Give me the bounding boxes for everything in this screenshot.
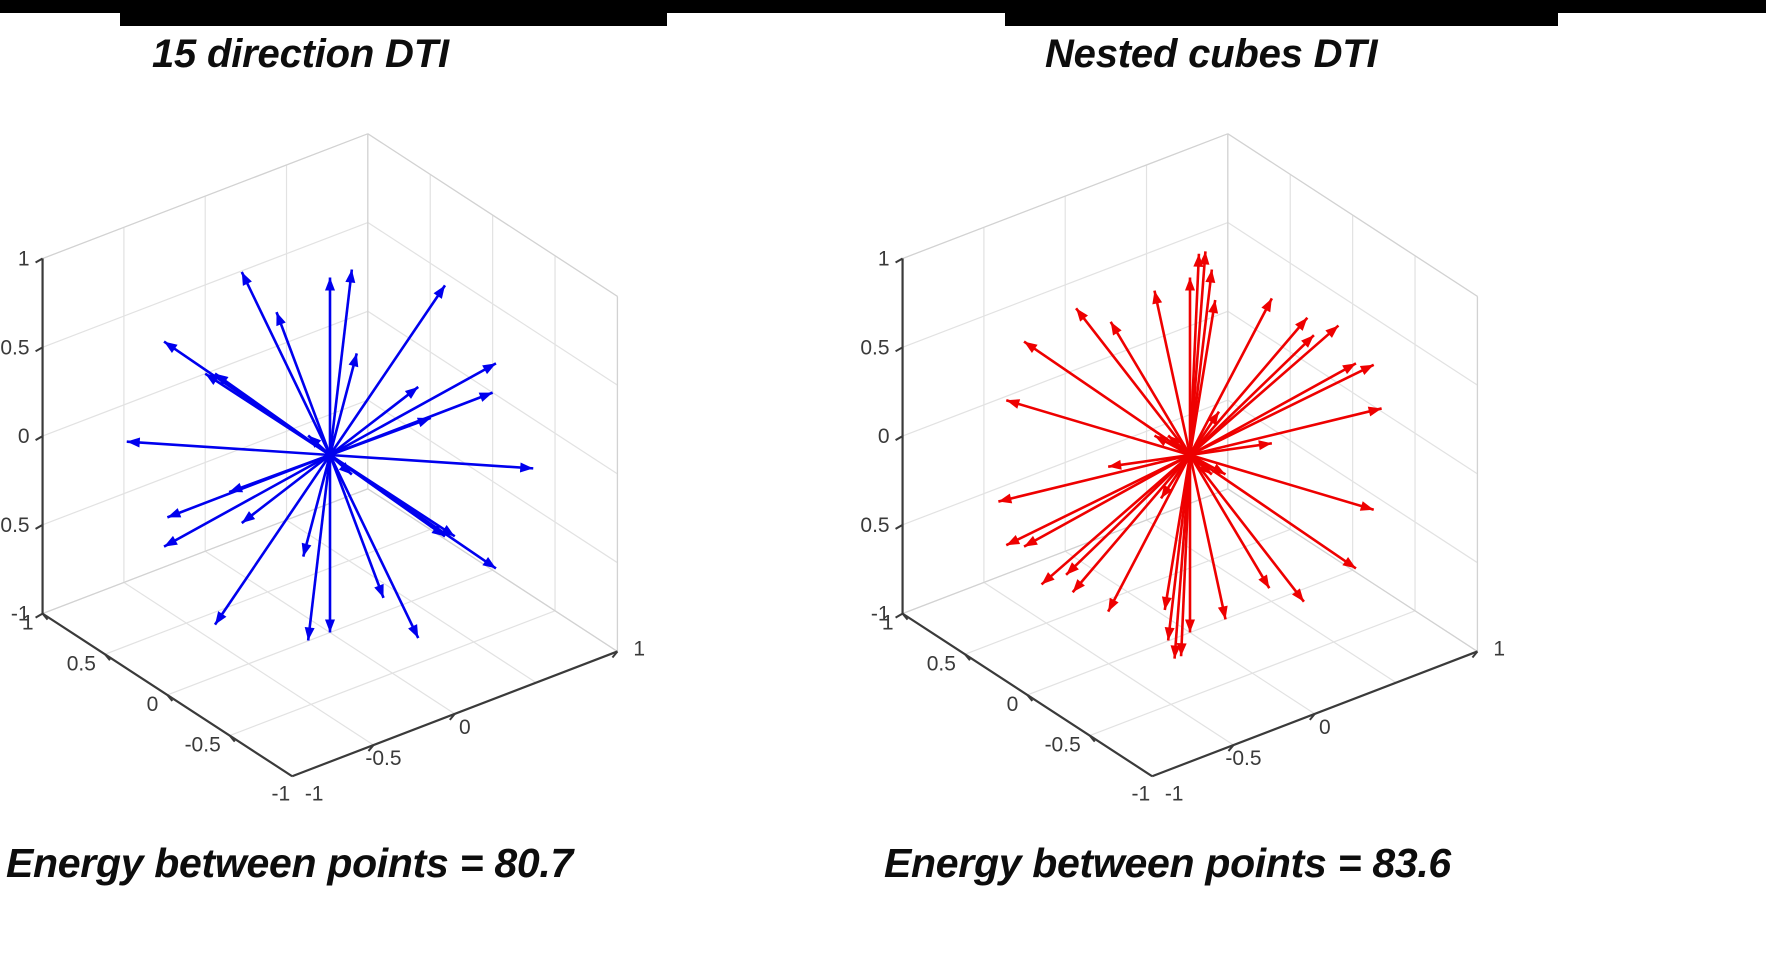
- quiver-arrow-head: [1360, 501, 1374, 511]
- quiver-arrow-shaft: [164, 342, 330, 455]
- z-tick: [896, 614, 903, 618]
- quiver-arrow-head: [1258, 440, 1272, 450]
- y-tick-label: 1: [22, 612, 34, 635]
- band-segment-1: [120, 0, 667, 26]
- quiver-arrow-head: [482, 363, 496, 374]
- z-tick: [36, 614, 43, 618]
- y-tick-label: -0.5: [185, 734, 221, 757]
- quiver-arrow-head: [276, 312, 285, 326]
- figure-left-dti-plot: 10.50-0.5-110.50-0.5-1-0.501-1: [0, 95, 700, 825]
- quiver-arrow-shaft: [1066, 455, 1190, 575]
- x-tick-label-corner: -1: [1165, 782, 1184, 805]
- quiver-arrow-shaft: [303, 455, 330, 557]
- quiver-arrow-head: [408, 624, 418, 638]
- z-tick-label: 0: [878, 425, 890, 448]
- quiver-arrow-head: [1185, 277, 1195, 290]
- caption-right-energy: Energy between points = 83.6: [884, 840, 1451, 887]
- quiver-arrow-head: [479, 393, 493, 402]
- y-axis-line: [903, 614, 1153, 777]
- quiver-arrow-head: [167, 508, 181, 517]
- band-segment-4: [1558, 0, 1766, 13]
- z-tick-label: 0: [18, 425, 30, 448]
- quiver-arrow-shaft: [330, 455, 383, 598]
- x-axis-line: [1152, 651, 1477, 776]
- quiver-arrow-shaft: [330, 363, 496, 455]
- quiver-arrow-head: [215, 611, 226, 625]
- band-segment-2: [667, 0, 1005, 13]
- band-segment-3: [1005, 0, 1558, 26]
- quiver-arrow-shaft: [330, 353, 357, 455]
- quiver-arrow-head: [1258, 574, 1269, 588]
- quiver-arrow-head: [1006, 399, 1020, 409]
- z-tick-label: 0.5: [860, 336, 889, 359]
- band-segment-0: [0, 0, 120, 13]
- quiver-arrow-shaft: [330, 418, 431, 455]
- quiver-arrow-head: [417, 418, 431, 427]
- figure-right-dti-plot: 10.50-0.5-110.50-0.5-1-0.501-1: [860, 95, 1560, 825]
- top-black-band: [0, 0, 1766, 26]
- floor-grid-line: [965, 529, 1290, 654]
- panel-title-left: 15 direction DTI: [152, 32, 449, 77]
- quiver-group: [998, 251, 1381, 658]
- y-tick-label: 0.5: [927, 652, 956, 675]
- quiver-group: [127, 270, 533, 641]
- y-tick-label: -0.5: [1045, 734, 1081, 757]
- quiver-arrow-head: [1111, 322, 1122, 336]
- x-tick-label: -0.5: [1225, 747, 1261, 770]
- quiver-arrow-head: [1360, 365, 1374, 375]
- quiver-arrow-head: [1108, 598, 1118, 612]
- z-tick-label: -0.5: [0, 514, 30, 537]
- quiver-arrow-shaft: [330, 455, 533, 468]
- quiver-arrow-head: [325, 277, 335, 290]
- quiver-arrow-head: [1006, 535, 1020, 545]
- quiver-arrow-head: [482, 557, 496, 568]
- quiver-arrow-head: [1162, 596, 1172, 610]
- panel-title-right: Nested cubes DTI: [1045, 32, 1377, 77]
- quiver-arrow-shaft: [1190, 365, 1374, 455]
- quiver-arrow-head: [302, 543, 312, 557]
- quiver-arrow-head: [242, 272, 252, 286]
- z-tick-label: -0.5: [860, 514, 890, 537]
- quiver-arrow-shaft: [1190, 326, 1338, 455]
- quiver-arrow-head: [1024, 536, 1038, 547]
- x-tick-label-corner: -1: [305, 782, 324, 805]
- quiver-arrow-head: [164, 536, 178, 547]
- y-tick-label: 1: [882, 612, 894, 635]
- quiver-arrow-head: [1261, 298, 1271, 312]
- floor-grid-line: [287, 520, 537, 683]
- quiver-arrow-shaft: [277, 312, 330, 455]
- quiver-arrow-shaft: [1190, 335, 1314, 455]
- z-tick-label: 1: [18, 248, 30, 271]
- quiver-arrow-head: [1024, 342, 1038, 353]
- quiver-arrow-head: [434, 285, 445, 299]
- quiver-arrow-head: [349, 353, 359, 367]
- y-tick-label-corner: -1: [271, 782, 290, 805]
- x-tick-label: 1: [633, 637, 645, 660]
- quiver-arrow-shaft: [330, 387, 418, 455]
- quiver-arrow-head: [520, 463, 533, 473]
- z-tick-label: 0.5: [0, 336, 29, 359]
- quiver-arrow-head: [229, 483, 243, 492]
- quiver-arrow-shaft: [1006, 455, 1190, 545]
- quiver-arrow-shaft: [229, 455, 330, 492]
- caption-left-energy: Energy between points = 80.7: [6, 840, 573, 887]
- quiver-arrow-shaft: [242, 455, 330, 523]
- y-tick-label-corner: -1: [1131, 782, 1150, 805]
- y-tick-label: 0: [147, 693, 159, 716]
- y-tick-label: 0: [1007, 693, 1019, 716]
- quiver-arrow-head: [1342, 557, 1356, 568]
- x-tick-label: -0.5: [365, 747, 401, 770]
- x-tick-label: 1: [1493, 637, 1505, 660]
- quiver-arrow-shaft: [1073, 455, 1190, 592]
- quiver-arrow-head: [374, 584, 383, 598]
- quiver-arrow-head: [127, 437, 140, 447]
- quiver-arrow-shaft: [998, 455, 1190, 502]
- dti-quiver-svg: 10.50-0.5-110.50-0.5-1-0.501-1: [860, 95, 1560, 825]
- y-tick-label: 0.5: [67, 652, 96, 675]
- quiver-arrow-head: [1342, 363, 1356, 374]
- x-axis-line: [292, 651, 617, 776]
- quiver-arrow-head: [1108, 460, 1122, 470]
- z-tick-label: 1: [878, 248, 890, 271]
- x-tick-label: 0: [459, 716, 471, 739]
- quiver-arrow-head: [164, 342, 178, 353]
- quiver-arrow-shaft: [330, 455, 496, 568]
- x-tick-label: 0: [1319, 716, 1331, 739]
- quiver-arrow-shaft: [1042, 455, 1190, 584]
- dti-quiver-svg: 10.50-0.5-110.50-0.5-1-0.501-1: [0, 95, 700, 825]
- quiver-arrow-head: [1208, 300, 1218, 314]
